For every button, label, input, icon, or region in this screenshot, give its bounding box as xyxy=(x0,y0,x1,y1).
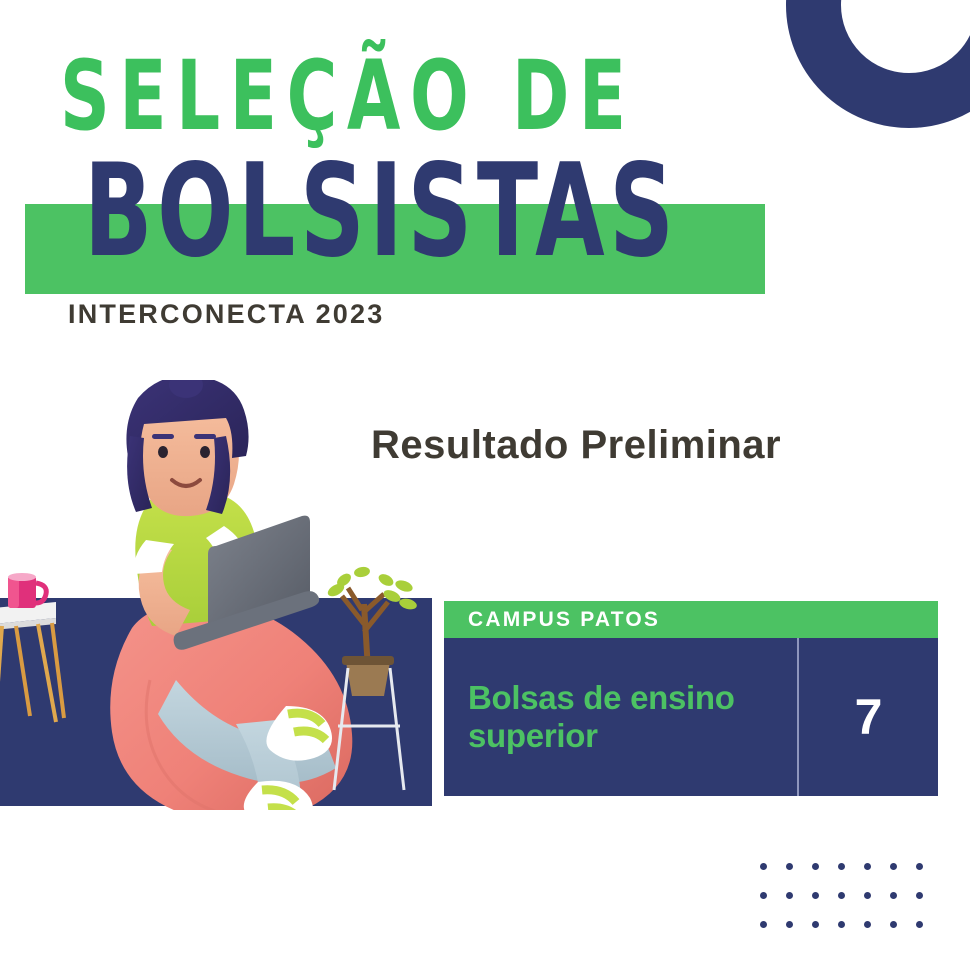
pink-mug-illustration xyxy=(8,573,46,608)
dot xyxy=(916,921,923,928)
scholarship-label-cell: Bolsas de ensino superior xyxy=(444,638,799,796)
dot xyxy=(786,921,793,928)
footer: INSTITUTO FEDERAL Paraíba Pró-Reitoria d… xyxy=(0,830,970,970)
dot xyxy=(838,921,845,928)
dot xyxy=(838,863,845,870)
dot xyxy=(786,892,793,899)
scholarship-label: Bolsas de ensino superior xyxy=(468,679,779,755)
results-card-header: CAMPUS PATOS xyxy=(444,601,938,638)
illustration-woman-with-laptop xyxy=(0,380,440,810)
dot xyxy=(812,892,819,899)
side-table-illustration xyxy=(0,602,64,722)
dot xyxy=(864,921,871,928)
dot-grid-decoration xyxy=(760,863,942,950)
results-card: CAMPUS PATOS Bolsas de ensino superior 7 xyxy=(444,601,938,796)
scholarship-count: 7 xyxy=(855,688,883,746)
dot xyxy=(786,863,793,870)
headline-line-1: SELEÇÃO DE xyxy=(60,48,764,144)
campus-label: CAMPUS PATOS xyxy=(468,608,660,632)
dot xyxy=(916,892,923,899)
dot xyxy=(812,921,819,928)
dot xyxy=(864,863,871,870)
dot xyxy=(812,863,819,870)
dot xyxy=(890,921,897,928)
dot xyxy=(760,892,767,899)
dot xyxy=(916,863,923,870)
dot xyxy=(760,863,767,870)
poster-canvas: SELEÇÃO DE BOLSISTAS INTERCONECTA 2023 R… xyxy=(0,0,970,970)
headline-line-2: BOLSISTAS xyxy=(84,148,679,276)
dot xyxy=(890,863,897,870)
dot xyxy=(760,921,767,928)
dot xyxy=(838,892,845,899)
headline-subtitle: INTERCONECTA 2023 xyxy=(68,299,384,330)
headline-block: SELEÇÃO DE xyxy=(60,48,940,144)
dot xyxy=(890,892,897,899)
scholarship-count-cell: 7 xyxy=(799,638,938,796)
dot xyxy=(864,892,871,899)
head-illustration xyxy=(126,380,248,516)
results-card-row: Bolsas de ensino superior 7 xyxy=(444,638,938,796)
